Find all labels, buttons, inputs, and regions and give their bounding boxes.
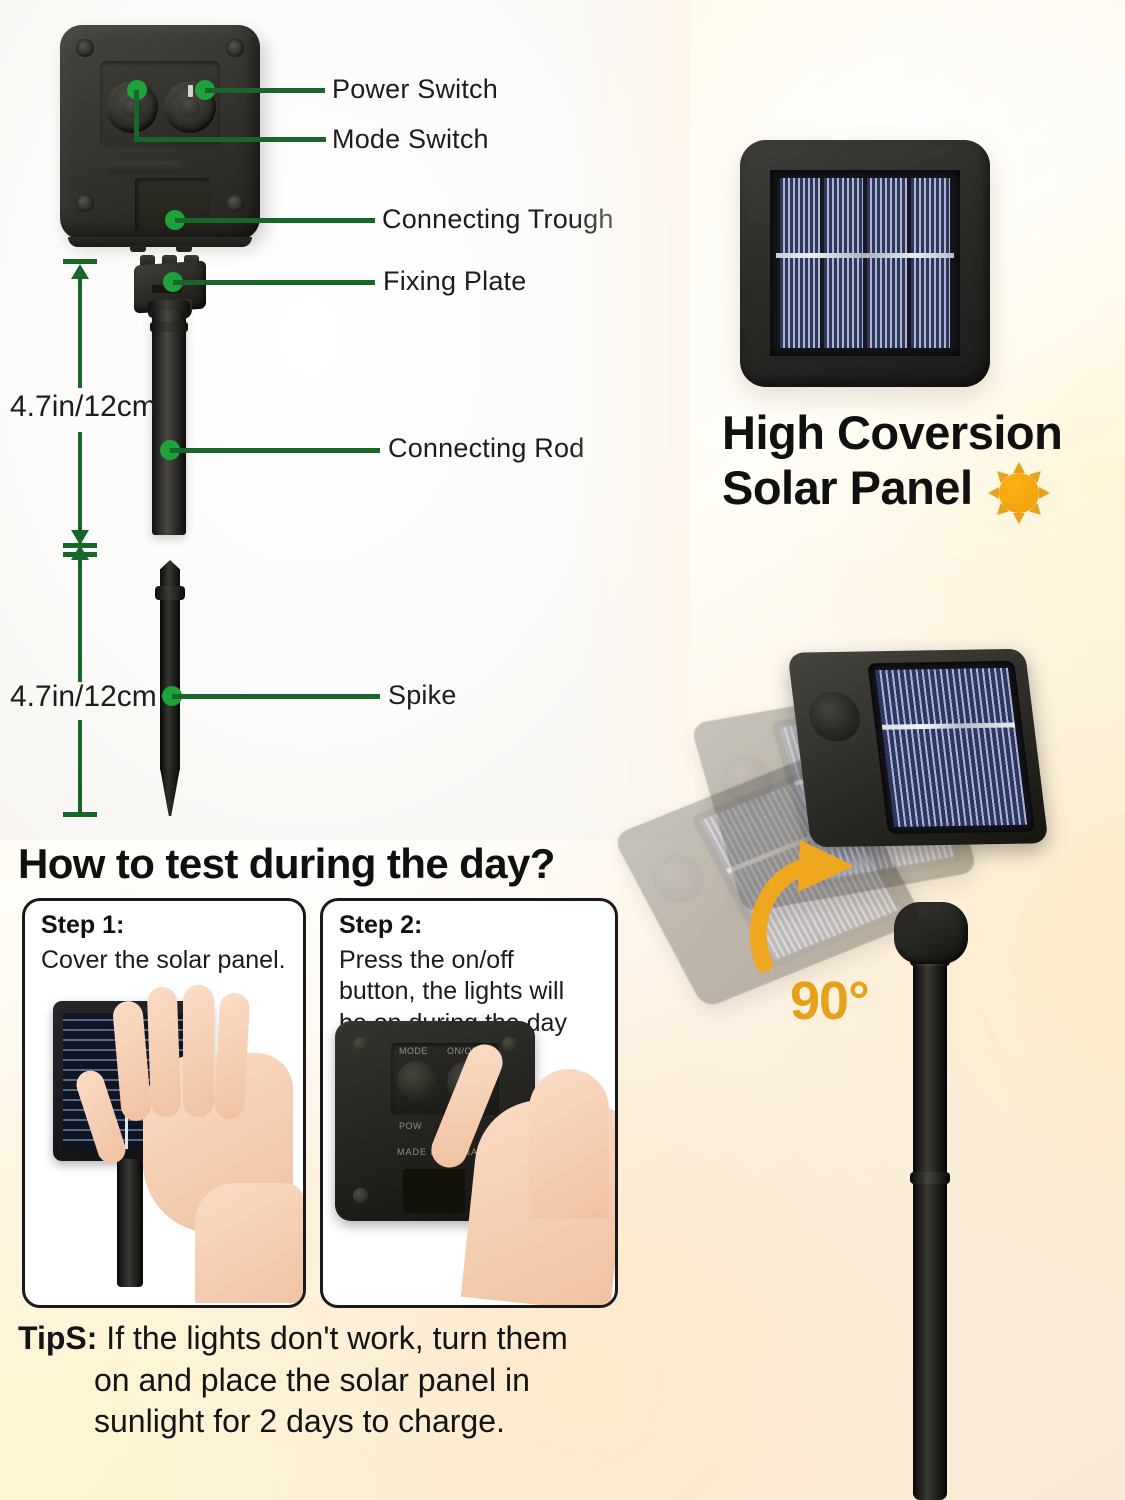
step-1-text: Cover the solar panel.: [41, 945, 299, 976]
switch-pad: [100, 61, 220, 147]
product-photo-stage: Power Switch Mode Switch Connecting Trou…: [0, 0, 690, 840]
mode-marking: MODE: [399, 1046, 428, 1056]
step-2-illustration: MODE ON/OFF POW MADE IN CHINA: [323, 901, 615, 1305]
step-1-card: Step 1: Cover the solar panel.: [22, 898, 306, 1308]
screw-icon: [226, 194, 244, 212]
tips-line-1: If the lights don't work, turn them: [106, 1320, 567, 1356]
mode-button[interactable]: [397, 1061, 437, 1101]
dim2-bottom-cap: [63, 812, 97, 817]
tips-line-3: sunlight for 2 days to charge.: [18, 1401, 658, 1443]
hero-title: High Coversion Solar Panel: [722, 405, 1122, 516]
callout-line-mode-switch-h: [134, 137, 326, 142]
screw-icon: [76, 194, 94, 212]
dim2-top-arrow-icon: [71, 545, 89, 560]
housing-nub: [176, 245, 192, 252]
hero-title-line1: High Coversion: [722, 406, 1062, 459]
callout-line-mode-switch-v: [134, 90, 139, 142]
rotation-demo-photo: 90°: [630, 640, 1125, 1500]
dimension-label-spike: 4.7in/12cm: [10, 680, 157, 714]
callout-line-fixing-plate: [173, 280, 375, 285]
rotation-angle-label: 90°: [790, 970, 869, 1032]
mounting-stem: [913, 940, 947, 1500]
screw-icon: [226, 39, 244, 57]
tips-line-2: on and place the solar panel in: [18, 1360, 658, 1402]
molded-marking: [108, 161, 180, 174]
solar-panel-hero-photo: [740, 140, 990, 387]
callout-line-power-switch: [205, 88, 325, 93]
callout-label-connecting-trough: Connecting Trough: [382, 204, 614, 235]
sun-icon: [988, 462, 1050, 524]
callout-line-connecting-trough: [175, 218, 375, 223]
callout-line-spike: [172, 694, 380, 699]
screw-icon: [76, 39, 94, 57]
curved-rotation-arrow-icon: [742, 838, 882, 978]
step-1-illustration: [25, 983, 303, 1303]
how-to-test-heading: How to test during the day?: [18, 840, 555, 888]
hero-title-line2: Solar Panel: [722, 461, 973, 514]
dim1-upper-line: [78, 268, 82, 388]
step-1-label: Step 1:: [41, 911, 124, 940]
pow-marking: POW: [399, 1121, 422, 1131]
connecting-rod-part: [152, 310, 186, 535]
panel-busbar: [776, 253, 954, 258]
tips-block: TipS: If the lights don't work, turn the…: [18, 1318, 658, 1443]
callout-label-fixing-plate: Fixing Plate: [383, 266, 526, 297]
spike-part: [160, 560, 180, 810]
dimension-label-rod: 4.7in/12cm: [10, 390, 157, 424]
callout-line-connecting-rod: [170, 448, 380, 453]
dim2-upper-line: [78, 560, 82, 682]
callout-label-power-switch: Power Switch: [332, 74, 498, 105]
infographic-page: Power Switch Mode Switch Connecting Trou…: [0, 0, 1125, 1500]
housing-lip: [68, 237, 252, 247]
solar-head-housing: [60, 25, 260, 240]
step-2-card: Step 2: Press the on/off button, the lig…: [320, 898, 618, 1308]
housing-nub: [130, 245, 146, 252]
tips-label: TipS:: [18, 1320, 97, 1356]
callout-label-spike: Spike: [388, 680, 457, 711]
callout-label-connecting-rod: Connecting Rod: [388, 433, 584, 464]
dim2-lower-line: [78, 720, 82, 816]
solar-unit-current-position: [787, 649, 1048, 848]
callout-label-mode-switch: Mode Switch: [332, 124, 489, 155]
